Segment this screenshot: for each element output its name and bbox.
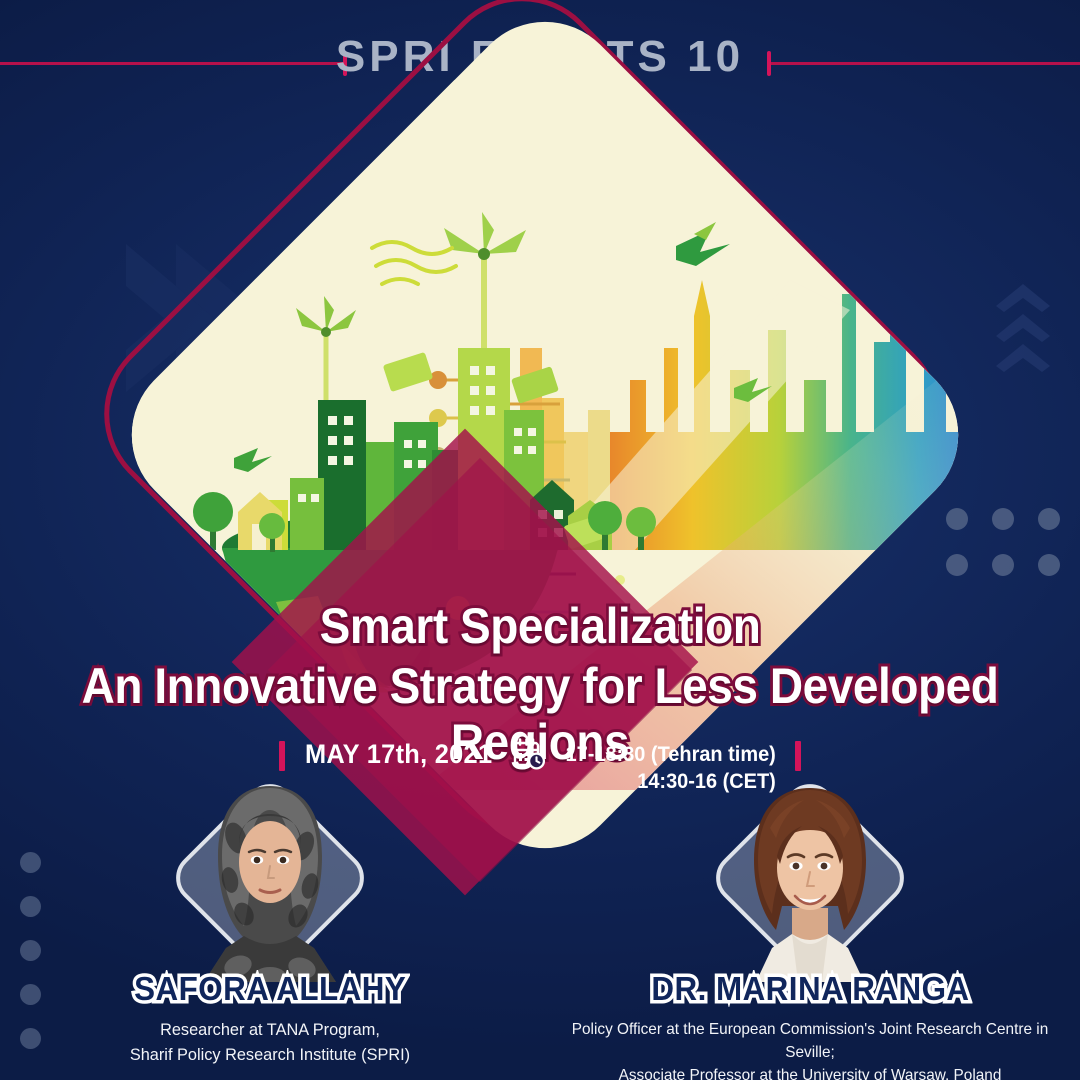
dot-grid-decoration bbox=[946, 508, 1060, 576]
speaker-card-1: SAFORA ALLAHY Researcher at TANA Program… bbox=[0, 780, 540, 1080]
speaker-role-2-line-1: Policy Officer at the European Commissio… bbox=[572, 1021, 1048, 1061]
dot bbox=[1038, 554, 1060, 576]
speaker-role-1: Researcher at TANA Program, Sharif Polic… bbox=[130, 1018, 410, 1067]
calendar-clock-icon bbox=[512, 737, 546, 771]
dot bbox=[946, 554, 968, 576]
accent-bar-left bbox=[279, 741, 285, 771]
speakers-section: SAFORA ALLAHY Researcher at TANA Program… bbox=[0, 780, 1080, 1080]
avatar bbox=[726, 776, 894, 982]
speaker-role-2-line-2: Associate Professor at the University of… bbox=[619, 1067, 1002, 1080]
speaker-role-1-line-1: Researcher at TANA Program, bbox=[160, 1020, 380, 1039]
chevron-up-decoration-icon bbox=[988, 282, 1058, 374]
dot bbox=[992, 554, 1014, 576]
accent-bar-right bbox=[795, 741, 801, 771]
speaker-photo-frame-2 bbox=[712, 780, 908, 976]
event-poster: SPRI EVENTS 10 bbox=[0, 0, 1080, 1080]
speaker-portrait-2 bbox=[726, 776, 894, 982]
avatar bbox=[186, 776, 354, 982]
event-date: MAY 17th, 2021 bbox=[305, 739, 492, 770]
speaker-photo-frame-1 bbox=[172, 780, 368, 976]
dot bbox=[992, 508, 1014, 530]
dot bbox=[946, 508, 968, 530]
event-time-line-1: 17-18:30 (Tehran time) bbox=[566, 743, 776, 766]
dot bbox=[1038, 508, 1060, 530]
speaker-role-2: Policy Officer at the European Commissio… bbox=[551, 1018, 1069, 1080]
speaker-name-2: DR. MARINA RANGA bbox=[651, 970, 969, 1008]
speaker-portrait-1 bbox=[186, 776, 354, 982]
speaker-name-1: SAFORA ALLAHY bbox=[134, 970, 406, 1008]
speaker-role-1-line-2: Sharif Policy Research Institute (SPRI) bbox=[130, 1045, 410, 1064]
title-line-1: Smart Specialization bbox=[43, 598, 1037, 654]
speaker-card-2: DR. MARINA RANGA Policy Officer at the E… bbox=[540, 780, 1080, 1080]
